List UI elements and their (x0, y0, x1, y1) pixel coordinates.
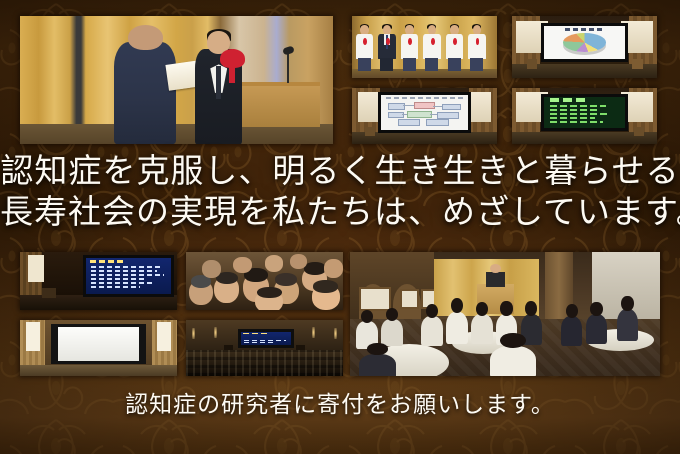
headline-line-2: 長寿社会の実現を私たちは、めざしています。 (0, 193, 680, 234)
photo-lecture-diagram (352, 88, 497, 144)
photo-banquet-reception (350, 252, 660, 376)
photo-audience-seniors (186, 252, 343, 310)
photo-lecture-green-slide (512, 88, 657, 144)
headline: 認知症を克服し、明るく生き生きと暮らせる 長寿社会の実現を私たちは、めざしていま… (0, 152, 680, 234)
slide-green-text (544, 97, 625, 128)
photo-lecture-blue-slide (20, 252, 177, 310)
photo-award-ceremony (20, 16, 333, 144)
photo-auditorium-full (186, 320, 343, 376)
slide-blue-text (86, 258, 171, 294)
slide-diagram (381, 95, 468, 129)
photo-lecture-pie-chart (512, 16, 657, 78)
slide-blue-auditorium (241, 332, 292, 345)
slide-blank-white (58, 327, 139, 361)
slide-pie-chart (544, 26, 625, 58)
photo-recipients-group (352, 16, 497, 78)
call-to-action-text: 認知症の研究者に寄付をお願いします。 (0, 385, 680, 419)
headline-line-1: 認知症を克服し、明るく生き生きと暮らせる (0, 152, 680, 193)
photo-empty-stage-screen (20, 320, 177, 376)
poster-canvas: 認知症を克服し、明るく生き生きと暮らせる 長寿社会の実現を私たちは、めざしていま… (0, 0, 680, 454)
